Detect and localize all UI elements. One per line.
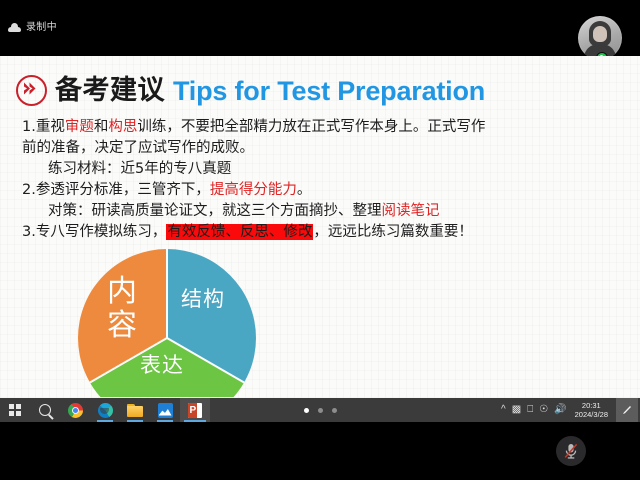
system-tray: ^ ▩ ⎕ ☉ 🔊 20:31 2024/3/28: [501, 398, 640, 422]
slide-title-en: Tips for Test Preparation: [173, 76, 485, 106]
text-segment: 。: [297, 182, 312, 198]
taskbar-apps: [0, 398, 210, 422]
chevron-up-icon[interactable]: ^: [501, 405, 506, 415]
recording-indicator: 录制中: [8, 20, 57, 34]
volume-icon[interactable]: 🔊: [554, 405, 566, 415]
pen-icon: [621, 404, 633, 416]
edge-button[interactable]: [90, 398, 120, 422]
line-1: 1.重视审题和构思训练，不要把全部精力放在正式写作本身上。正式写作: [22, 117, 628, 138]
clock[interactable]: 20:31 2024/3/28: [573, 401, 610, 419]
search-icon: [39, 404, 51, 416]
pie-label-content: 内容: [105, 275, 139, 343]
battery-icon[interactable]: ▩: [512, 405, 521, 415]
page-dot[interactable]: [332, 408, 337, 413]
show-desktop-button[interactable]: [616, 398, 638, 422]
text-segment: 和: [94, 119, 109, 135]
chrome-button[interactable]: [60, 398, 90, 422]
shared-slide[interactable]: 备考建议 Tips for Test Preparation 1.重视审题和构思…: [0, 56, 640, 398]
mute-button[interactable]: [556, 436, 586, 466]
file-explorer-button[interactable]: [120, 398, 150, 422]
photos-button[interactable]: [150, 398, 180, 422]
powerpoint-icon: [188, 403, 202, 418]
microphone-icon[interactable]: ☉: [539, 405, 548, 415]
photos-icon: [158, 403, 173, 418]
edge-icon: [98, 403, 113, 418]
text-segment: 练习材料：近5年的专八真题: [48, 161, 231, 177]
line-5: 对策：研读高质量论证文，就这三个方面摘抄、整理阅读笔记: [22, 201, 628, 222]
text-segment: 有效反馈、反思、修改: [166, 224, 313, 240]
pie-label-structure: 结构: [181, 287, 225, 311]
page-dot[interactable]: [318, 408, 323, 413]
text-segment: 1.重视: [22, 119, 65, 135]
red-circle-arrow-icon: [16, 75, 47, 106]
pie-chart: 内容 结构 表达: [78, 249, 256, 397]
clock-time: 20:31: [582, 401, 601, 410]
text-segment: 3.专八写作模拟练习，: [22, 224, 166, 240]
folder-icon: [127, 404, 143, 417]
slide-body-text: 1.重视审题和构思训练，不要把全部精力放在正式写作本身上。正式写作前的准备，决定…: [22, 117, 628, 243]
slide-title-cn: 备考建议: [55, 76, 165, 106]
text-segment: 构思: [108, 119, 137, 135]
line-6: 3.专八写作模拟练习，有效反馈、反思、修改，远远比练习篇数重要！: [22, 222, 628, 243]
page-dot[interactable]: [304, 408, 309, 413]
line-3: 练习材料：近5年的专八真题: [22, 159, 628, 180]
windows-taskbar: ^ ▩ ⎕ ☉ 🔊 20:31 2024/3/28: [0, 398, 640, 422]
search-button[interactable]: [30, 398, 60, 422]
start-button[interactable]: [0, 398, 30, 422]
chrome-icon: [68, 403, 83, 418]
windows-logo-icon: [9, 404, 21, 416]
text-segment: 阅读笔记: [382, 203, 440, 219]
text-segment: 审题: [65, 119, 94, 135]
text-segment: 训练，不要把全部精力放在正式写作本身上。正式写作: [137, 119, 485, 135]
line-4: 2.参透评分标准，三管齐下，提高得分能力。: [22, 180, 628, 201]
cloud-icon: [8, 23, 21, 32]
text-segment: 2.参透评分标准，三管齐下，: [22, 182, 210, 198]
text-segment: ，远远比练习篇数重要！: [313, 224, 473, 240]
avatar-face: [593, 26, 607, 42]
line-2: 前的准备，决定了应试写作的成败。: [22, 138, 628, 159]
recording-label: 录制中: [26, 22, 57, 33]
pie-label-expression: 表达: [140, 353, 184, 377]
pie-divider: [166, 249, 168, 338]
network-icon[interactable]: ⎕: [527, 405, 533, 415]
meeting-screen: 录制中 英语老师... 备考建议 Tips for Test Preparati…: [0, 0, 640, 480]
powerpoint-button[interactable]: [180, 398, 210, 422]
microphone-muted-icon: [563, 442, 579, 460]
text-segment: 前的准备，决定了应试写作的成败。: [22, 140, 254, 156]
meeting-controls-bar: [0, 422, 640, 480]
text-segment: 对策：研读高质量论证文，就这三个方面摘抄、整理: [48, 203, 382, 219]
text-segment: 提高得分能力: [210, 182, 297, 198]
clock-date: 2024/3/28: [575, 410, 608, 419]
slide-title: 备考建议 Tips for Test Preparation: [16, 75, 485, 106]
